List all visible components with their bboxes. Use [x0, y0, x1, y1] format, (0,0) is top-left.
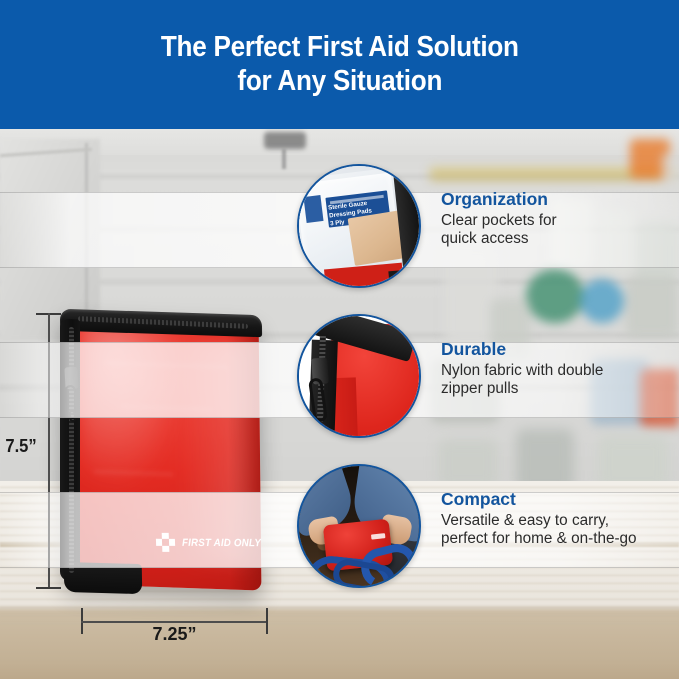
- feature-organization: Sterile GauzeDressing Pads3 Ply Organiza…: [297, 164, 679, 294]
- infographic-canvas: The Perfect First Aid Solution for Any S…: [0, 0, 679, 679]
- ceiling-rod: [282, 149, 286, 169]
- feature-title-compact: Compact: [441, 490, 679, 509]
- feature-description-organization: Clear pockets for quick access: [441, 212, 679, 248]
- ceiling-light-icon: [264, 132, 306, 149]
- feature-title-organization: Organization: [441, 190, 679, 209]
- feature-title-durable: Durable: [441, 340, 679, 359]
- height-dimension-label: 7.5”: [5, 436, 36, 457]
- width-dimension-label: 7.25”: [0, 624, 349, 645]
- height-tick-bottom: [36, 587, 61, 589]
- feature-image-compact: [297, 464, 421, 588]
- feature-image-organization: Sterile GauzeDressing Pads3 Ply: [297, 164, 421, 288]
- feature-image-durable: [297, 314, 421, 438]
- feature-compact: Compact Versatile & easy to carry, perfe…: [297, 464, 679, 594]
- feature-durable: Durable Nylon fabric with double zipper …: [297, 314, 679, 444]
- page-title: The Perfect First Aid Solution for Any S…: [161, 31, 519, 99]
- header-banner: The Perfect First Aid Solution for Any S…: [0, 0, 679, 129]
- width-dimension-line: [81, 621, 268, 623]
- feature-description-compact: Versatile & easy to carry, perfect for h…: [441, 512, 679, 548]
- feature-description-durable: Nylon fabric with double zipper pulls: [441, 362, 679, 398]
